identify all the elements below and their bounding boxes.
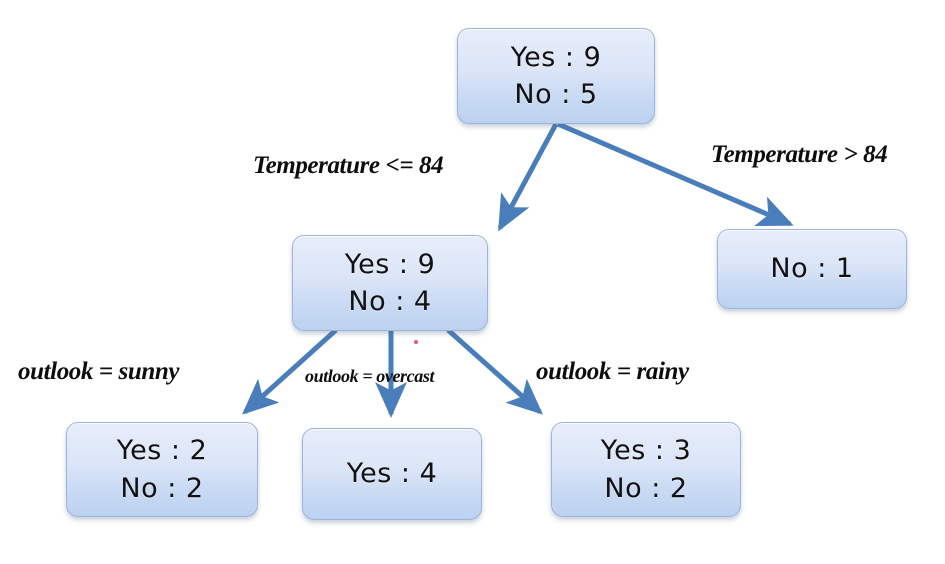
edge-label-outlook-overcast: outlook = overcast	[305, 366, 434, 387]
node-outlook-overcast[interactable]: Yes : 4	[302, 428, 482, 520]
node-outlook-sunny-line2: No : 2	[120, 470, 203, 507]
node-temperature-le-84-line2: No : 4	[348, 283, 431, 320]
node-root-line2: No : 5	[514, 76, 597, 113]
edge-label-temperature-gt-84: Temperature > 84	[711, 141, 887, 169]
node-temperature-le-84-line1: Yes : 9	[345, 246, 436, 283]
node-outlook-rainy-line1: Yes : 3	[601, 432, 692, 469]
node-temperature-le-84[interactable]: Yes : 9 No : 4	[292, 235, 488, 331]
edge-label-temperature-le-84: Temperature <= 84	[253, 152, 443, 180]
node-temperature-gt-84-line1: No : 1	[770, 250, 853, 287]
edge-label-outlook-sunny: outlook = sunny	[18, 358, 179, 386]
node-root[interactable]: Yes : 9 No : 5	[457, 28, 655, 124]
node-outlook-sunny[interactable]: Yes : 2 No : 2	[66, 422, 258, 517]
edge-line-outlook-rainy	[448, 330, 540, 412]
stray-dot-artifact	[414, 340, 418, 344]
edge-line-temperature-le-84	[500, 124, 556, 228]
edge-line-temperature-gt-84	[558, 124, 790, 224]
node-outlook-rainy[interactable]: Yes : 3 No : 2	[551, 422, 741, 517]
edge-label-outlook-rainy: outlook = rainy	[536, 358, 689, 386]
node-root-line1: Yes : 9	[511, 39, 602, 76]
node-outlook-sunny-line1: Yes : 2	[117, 432, 208, 469]
node-outlook-rainy-line2: No : 2	[604, 470, 687, 507]
decision-tree-diagram: Yes : 9 No : 5 Yes : 9 No : 4 No : 1 Yes…	[0, 0, 945, 564]
node-temperature-gt-84[interactable]: No : 1	[717, 229, 907, 309]
node-outlook-overcast-line1: Yes : 4	[347, 455, 438, 492]
